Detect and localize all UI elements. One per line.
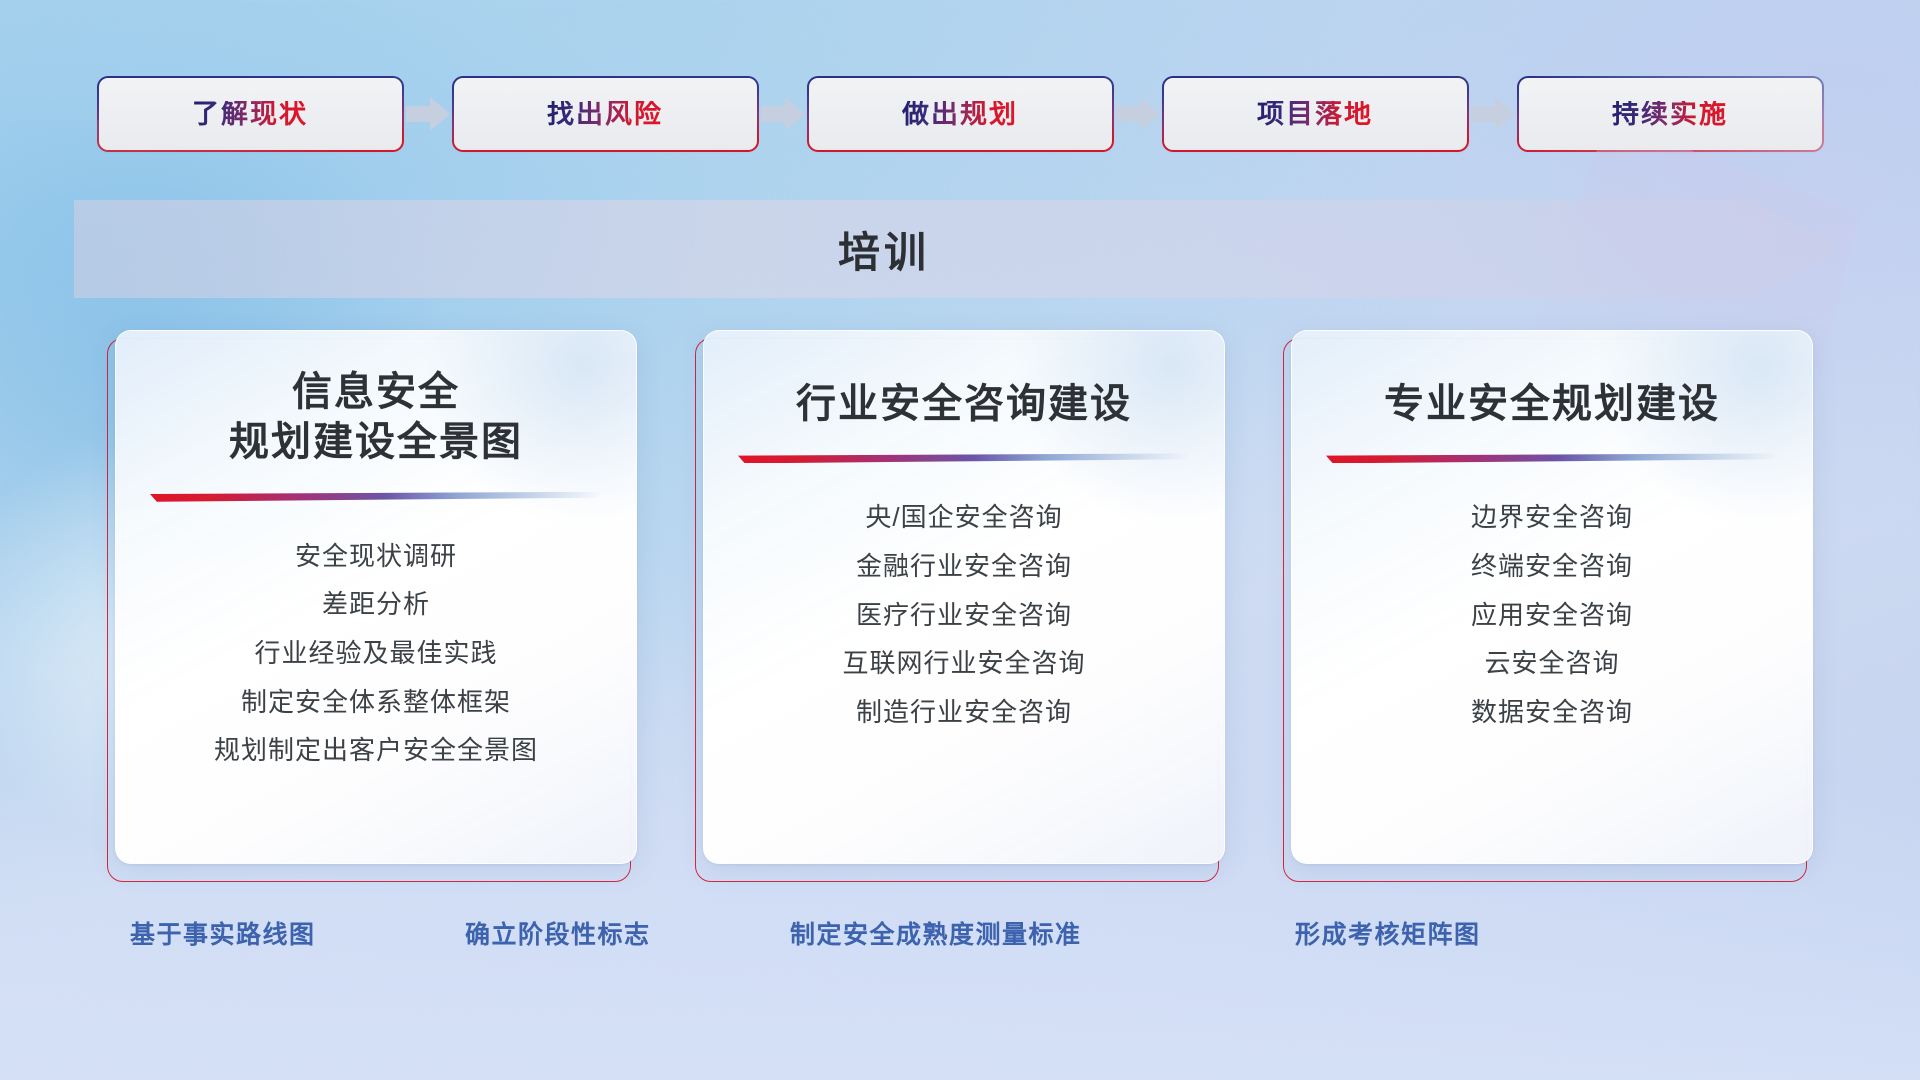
card-title-line: 信息安全	[142, 367, 610, 417]
footer-label-4: 形成考核矩阵图	[1295, 915, 1481, 951]
card-divider-3	[1326, 453, 1778, 463]
list-item: 边界安全咨询	[1471, 503, 1633, 532]
footer-label-1: 基于事实路线图	[130, 915, 316, 951]
card-title-3: 专业安全规划建设	[1292, 379, 1812, 429]
service-card-3-wrapper: 专业安全规划建设 边界安全咨询 终端安全咨询 应用安全咨询 云安全咨询 数据安全…	[1283, 330, 1813, 882]
service-card-3[interactable]: 专业安全规划建设 边界安全咨询 终端安全咨询 应用安全咨询 云安全咨询 数据安全…	[1291, 330, 1813, 864]
step-box-3[interactable]: 做出规划	[809, 78, 1112, 150]
list-item: 互联网行业安全咨询	[842, 649, 1085, 678]
step-label-4: 项目落地	[1257, 101, 1373, 128]
right-arrow-icon	[1112, 76, 1164, 152]
list-item: 应用安全咨询	[1471, 601, 1633, 630]
card-title-line: 专业安全规划建设	[1318, 379, 1786, 429]
footer-label-2: 确立阶段性标志	[465, 915, 651, 951]
step-label-5: 持续实施	[1612, 101, 1728, 128]
card-title-line: 行业安全咨询建设	[730, 379, 1198, 429]
list-item: 制造行业安全咨询	[856, 698, 1072, 727]
right-arrow-icon	[1467, 76, 1519, 152]
list-item: 行业经验及最佳实践	[254, 639, 497, 668]
footer-label-3: 制定安全成熟度测量标准	[790, 915, 1082, 951]
right-arrow-icon	[757, 76, 809, 152]
list-item: 差距分析	[322, 590, 430, 619]
list-item: 安全现状调研	[295, 542, 457, 571]
step-box-4[interactable]: 项目落地	[1164, 78, 1467, 150]
step-box-2[interactable]: 找出风险	[454, 78, 757, 150]
list-item: 央/国企安全咨询	[865, 503, 1062, 532]
footer-label-row: 基于事实路线图 确立阶段性标志 制定安全成熟度测量标准 形成考核矩阵图	[0, 915, 1920, 965]
list-item: 终端安全咨询	[1471, 552, 1633, 581]
list-item: 数据安全咨询	[1471, 698, 1633, 727]
list-item: 医疗行业安全咨询	[856, 601, 1072, 630]
card-list-2: 央/国企安全咨询 金融行业安全咨询 医疗行业安全咨询 互联网行业安全咨询 制造行…	[704, 503, 1224, 726]
card-divider-1	[150, 492, 602, 502]
right-arrow-icon	[402, 76, 454, 152]
card-title-2: 行业安全咨询建设	[704, 379, 1224, 429]
service-card-1[interactable]: 信息安全 规划建设全景图 安全现状调研 差距分析 行业经验及最佳实践 制定安全体…	[115, 330, 637, 864]
service-card-2-wrapper: 行业安全咨询建设 央/国企安全咨询 金融行业安全咨询 医疗行业安全咨询 互联网行…	[695, 330, 1225, 882]
banner-title: 培训	[74, 200, 1694, 298]
card-title-line: 规划建设全景图	[142, 417, 610, 467]
step-label-1: 了解现状	[192, 101, 308, 128]
training-banner: 培训	[74, 200, 1840, 298]
list-item: 制定安全体系整体框架	[241, 688, 511, 717]
card-list-1: 安全现状调研 差距分析 行业经验及最佳实践 制定安全体系整体框架 规划制定出客户…	[116, 542, 636, 765]
service-card-1-wrapper: 信息安全 规划建设全景图 安全现状调研 差距分析 行业经验及最佳实践 制定安全体…	[107, 330, 637, 882]
process-step-row: 了解现状 找出风险 做出规划 项目落地 持续实施	[0, 76, 1920, 152]
step-box-5[interactable]: 持续实施	[1519, 78, 1822, 150]
step-label-2: 找出风险	[547, 101, 663, 128]
card-list-3: 边界安全咨询 终端安全咨询 应用安全咨询 云安全咨询 数据安全咨询	[1292, 503, 1812, 726]
service-card-2[interactable]: 行业安全咨询建设 央/国企安全咨询 金融行业安全咨询 医疗行业安全咨询 互联网行…	[703, 330, 1225, 864]
card-divider-2	[738, 453, 1190, 463]
card-title-1: 信息安全 规划建设全景图	[116, 367, 636, 468]
list-item: 金融行业安全咨询	[856, 552, 1072, 581]
step-box-1[interactable]: 了解现状	[99, 78, 402, 150]
list-item: 规划制定出客户安全全景图	[214, 736, 538, 765]
service-card-group: 信息安全 规划建设全景图 安全现状调研 差距分析 行业经验及最佳实践 制定安全体…	[0, 330, 1920, 890]
list-item: 云安全咨询	[1484, 649, 1619, 678]
step-label-3: 做出规划	[902, 101, 1018, 128]
